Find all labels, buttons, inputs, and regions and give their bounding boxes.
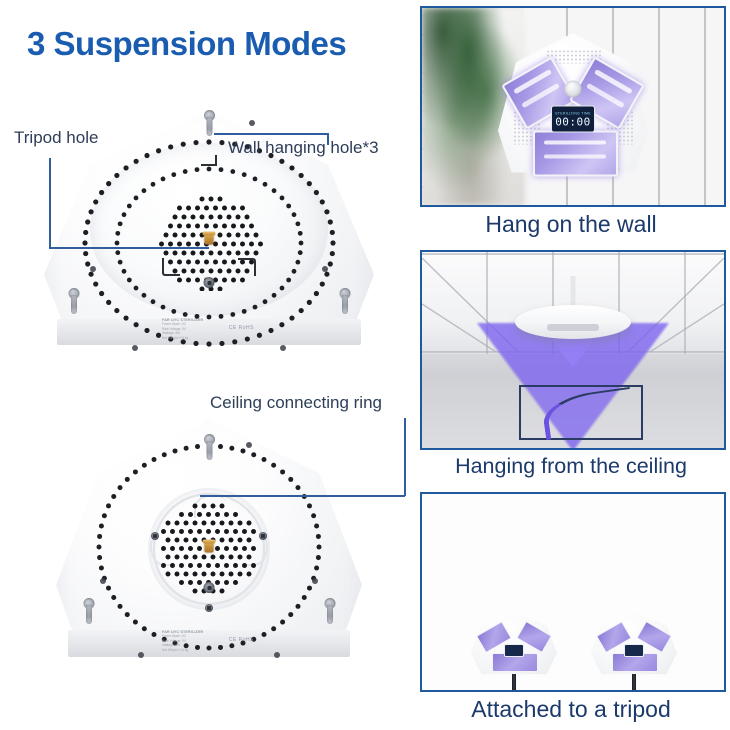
panel-attached-to-a-tripod: Attached to a tripod (420, 492, 722, 723)
callout-wall-hanging-hole-label: Wall hanging hole*3 (228, 138, 379, 158)
product-label-plate: FAR UVC STERILIZER Power Mode: DC Rate V… (158, 318, 260, 344)
wall-hanging-hole-right (338, 288, 351, 314)
callout-ceiling-ring-leader-v (404, 418, 406, 496)
ring-screw-bottom (205, 604, 213, 612)
ring-screw-right (259, 532, 267, 540)
ceiling-device (515, 305, 631, 339)
photo-tripod-mounted (420, 492, 726, 692)
corner-dot-bottom-left (132, 345, 138, 351)
callout-tripod-hole-leader-v (49, 158, 51, 248)
motion-sensor-icon (565, 81, 582, 98)
diagram-column: 3 Suspension Modes (0, 0, 412, 730)
label-line-4: Net Weight: 0.5 kg (162, 336, 260, 340)
product-front-view: STERILIZING TIME 00:00 (498, 33, 648, 188)
bracket-left (162, 258, 180, 276)
tripod-head-right (591, 612, 677, 678)
callout-tripod-hole-label: Tripod hole (14, 128, 98, 148)
ceiling-scene (422, 252, 724, 448)
uv-sterilizer-back-view-bottom: FAR UVC STERILIZER Power Mode: DC Rate V… (56, 420, 362, 686)
photo-wall-mounted: STERILIZING TIME 00:00 (420, 6, 726, 207)
center-screw (204, 582, 215, 593)
corner-dot-right (312, 578, 318, 584)
tripod-pole (512, 674, 516, 692)
lcd-timer-value: 00:00 (555, 116, 591, 127)
tripod-unit-right (588, 612, 680, 678)
corner-dot-bottom-left (138, 652, 144, 658)
lcd-label: STERILIZING TIME (555, 111, 591, 115)
callout-wall-hanging-leader-v (327, 133, 329, 145)
callout-wall-hanging-leader-h (214, 133, 328, 135)
lcd-display (504, 644, 524, 657)
corner-dot-bottom-right (274, 652, 280, 658)
photo-column: STERILIZING TIME 00:00 Hang on the wall (412, 0, 730, 730)
caption-hanging-from-the-ceiling: Hanging from the ceiling (420, 454, 722, 479)
corner-dot-right (322, 266, 328, 272)
callout-ceiling-ring-label: Ceiling connecting ring (210, 393, 382, 413)
panel-hanging-from-the-ceiling: Hanging from the ceiling (420, 250, 722, 479)
lcd-display (624, 644, 644, 657)
callout-tripod-hole-leader-h (49, 247, 209, 249)
panel-hang-on-the-wall: STERILIZING TIME 00:00 Hang on the wall (420, 6, 722, 238)
caption-attached-to-a-tripod: Attached to a tripod (420, 696, 722, 723)
callout-ceiling-ring-leader-h (200, 495, 405, 497)
corner-dot-left (90, 266, 96, 272)
bracket-top (201, 155, 217, 166)
tripod-pole (632, 674, 636, 692)
caption-hang-on-the-wall: Hang on the wall (420, 211, 722, 238)
tripod-scene (422, 494, 724, 690)
certification-marks-icon: CE RoHS (229, 638, 254, 642)
tripod-unit-left (468, 612, 560, 678)
certification-marks-icon: CE RoHS (229, 326, 254, 330)
lcd-display: STERILIZING TIME 00:00 (551, 106, 595, 133)
corner-dot-top-right (249, 120, 255, 126)
corner-dot-bottom-right (280, 345, 286, 351)
tripod-hole (205, 234, 214, 245)
page-title: 3 Suspension Modes (27, 25, 346, 63)
bracket-right (238, 258, 256, 276)
wall-hanging-hole-left (82, 598, 95, 624)
center-screw (204, 277, 215, 288)
infographic-root: 3 Suspension Modes (0, 0, 730, 730)
uv-lamp-bottom (533, 131, 618, 177)
corner-dot-top-right (246, 442, 252, 448)
ring-screw-left (151, 532, 159, 540)
tripod-hole (205, 542, 214, 553)
photo-ceiling-mounted (420, 250, 726, 450)
wall-hanging-hole-left (67, 288, 80, 314)
corner-dot-left (100, 578, 106, 584)
wall-hanging-hole-right (323, 598, 336, 624)
wall-hanging-hole-top (203, 434, 216, 460)
tripod-head-left (471, 612, 557, 678)
product-label-plate: FAR UVC STERILIZER Power Mode: DC Rate V… (158, 630, 260, 656)
label-line-4: Net Weight: 0.5 kg (162, 648, 260, 652)
